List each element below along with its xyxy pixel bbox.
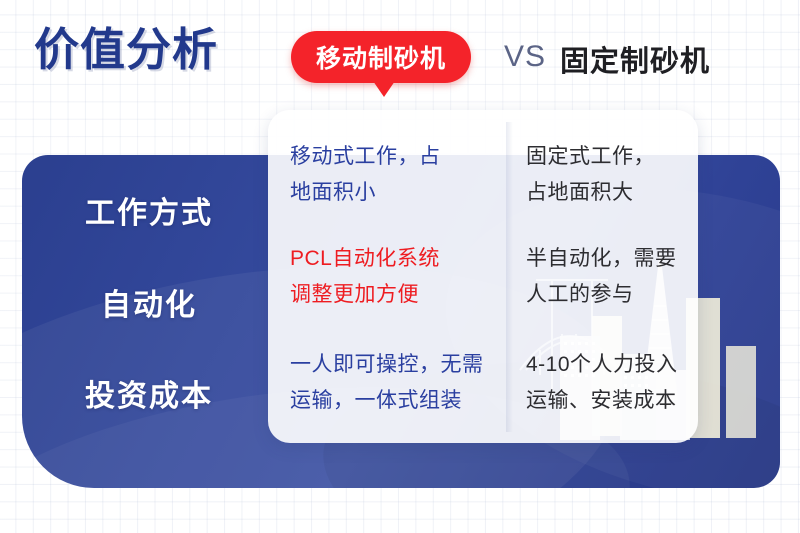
cell-fixed-automation: 半自动化，需要 人工的参与 <box>526 241 698 313</box>
comparison-card-body: 移动式工作，占 地面积小 PCL自动化系统 调整更加方便 一人即可操控，无需 运… <box>268 110 698 443</box>
page-title: 价值分析 <box>34 24 218 76</box>
cell-mobile-investment-cost: 一人即可操控，无需 运输，一体式组装 <box>290 347 505 419</box>
row-label-investment-cost: 投资成本 <box>24 371 274 415</box>
fixed-machine-title: 固定制砂机 <box>560 38 710 80</box>
cell-fixed-investment-cost: 4-10个人力投入 运输、安装成本 <box>526 347 698 419</box>
cell-mobile-work-mode: 移动式工作，占 地面积小 <box>290 139 505 211</box>
comparison-card: 移动式工作，占 地面积小 PCL自动化系统 调整更加方便 一人即可操控，无需 运… <box>268 110 698 443</box>
vs-label: VS <box>504 40 546 74</box>
badge-pointer-icon <box>373 81 395 97</box>
mobile-machine-badge: 移动制砂机 <box>291 31 471 83</box>
cell-mobile-automation: PCL自动化系统 调整更加方便 <box>290 241 505 313</box>
row-label-automation: 自动化 <box>24 280 274 324</box>
column-divider <box>506 122 513 432</box>
mobile-machine-badge-label: 移动制砂机 <box>291 31 471 83</box>
poster-canvas: 移动式工作，占 地面积小 PCL自动化系统 调整更加方便 一人即可操控，无需 运… <box>0 0 800 533</box>
row-label-work-mode: 工作方式 <box>24 188 274 232</box>
cell-fixed-work-mode: 固定式工作， 占地面积大 <box>526 139 698 211</box>
